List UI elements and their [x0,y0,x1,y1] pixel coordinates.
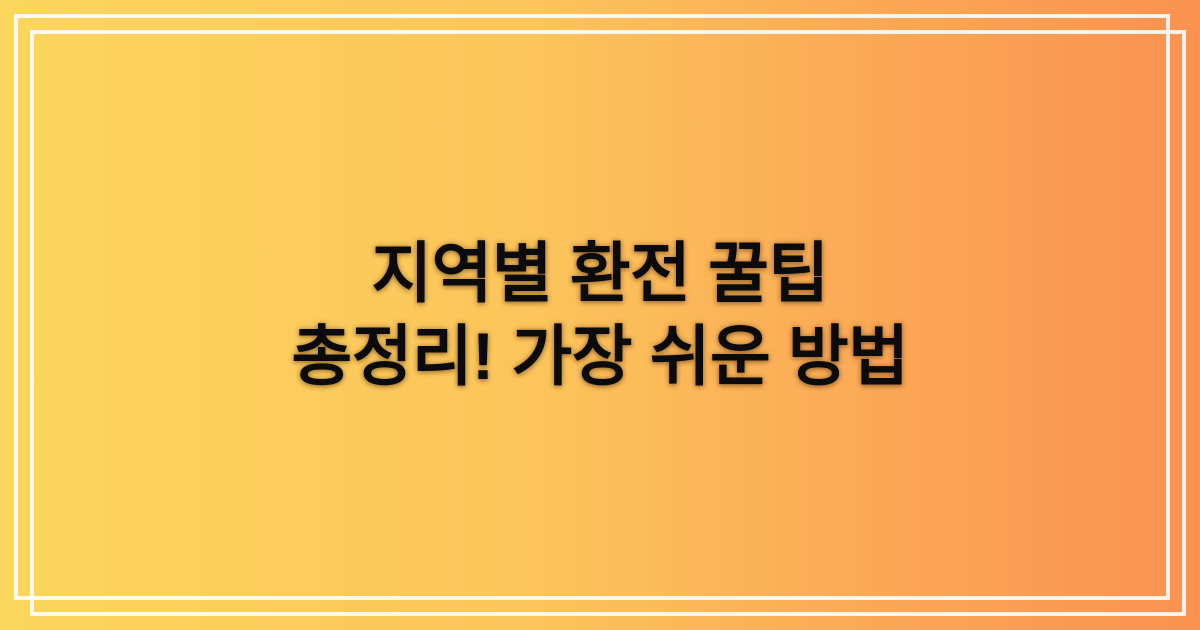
thumbnail-banner: 지역별 환전 꿀팁 총정리! 가장 쉬운 방법 [0,0,1200,630]
title-block: 지역별 환전 꿀팁 총정리! 가장 쉬운 방법 [0,0,1200,630]
page-title: 지역별 환전 꿀팁 총정리! 가장 쉬운 방법 [290,232,910,398]
